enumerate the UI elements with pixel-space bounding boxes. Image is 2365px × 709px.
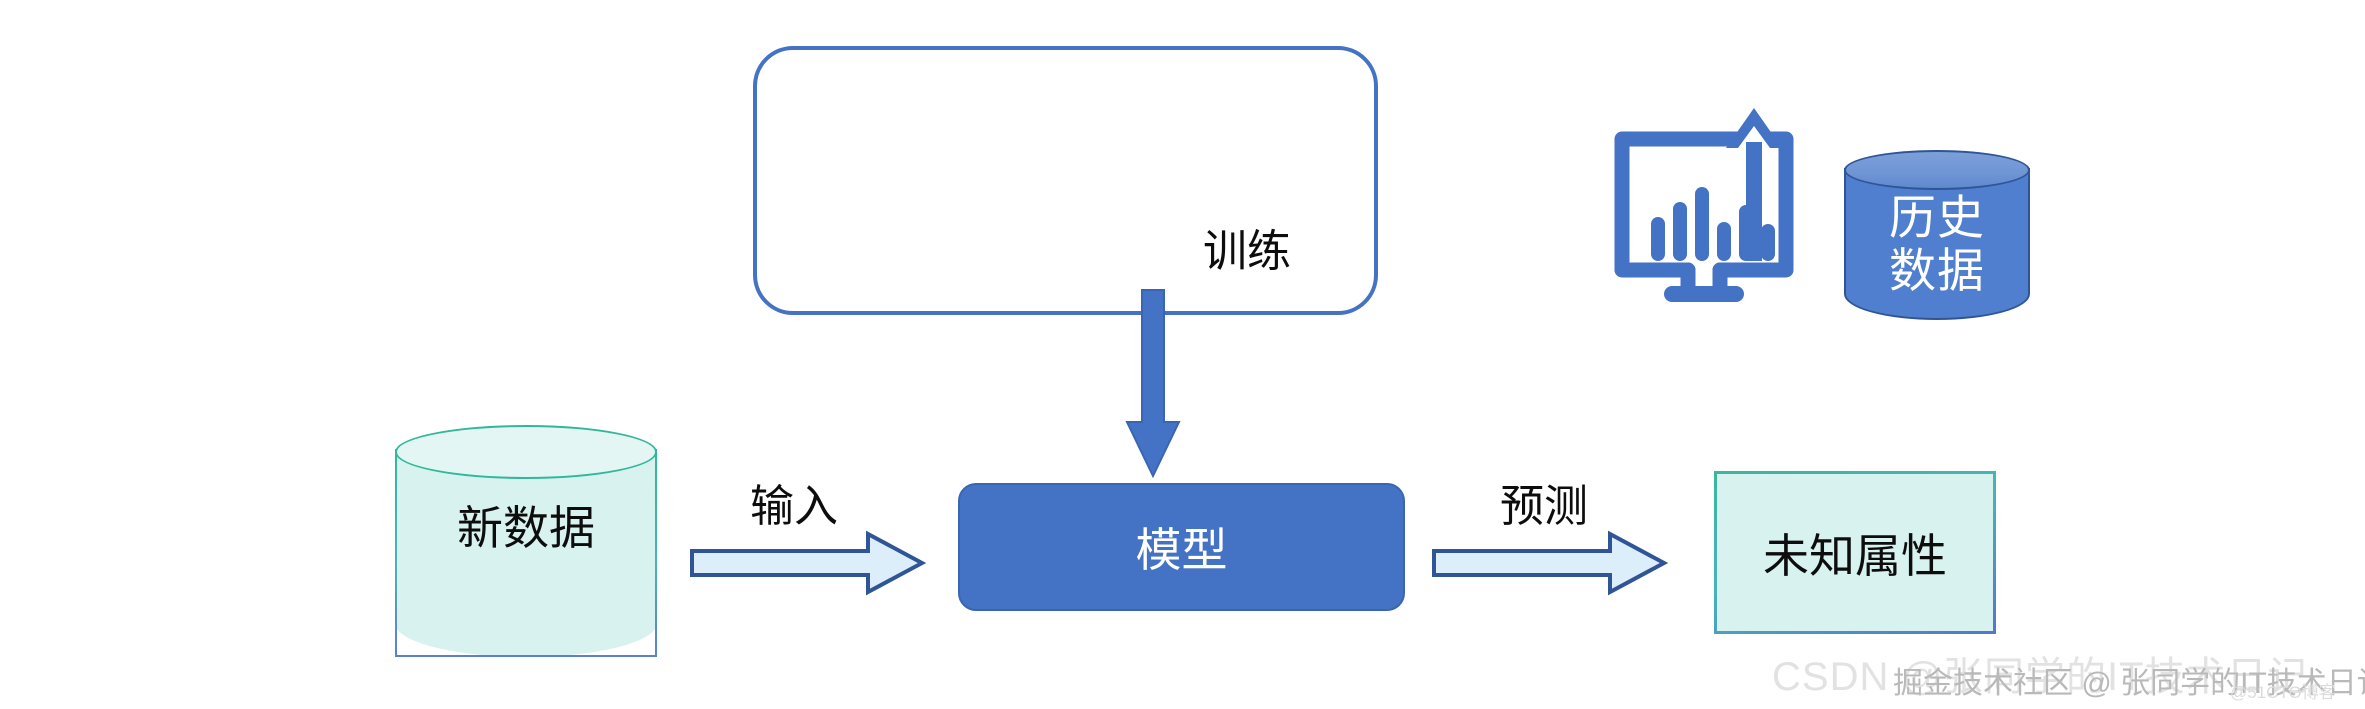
arrow-input-label: 输入: [750, 470, 838, 534]
watermark-51cto: @51CTO博客: [2230, 678, 2336, 703]
history-label-line1: 历史: [1844, 192, 2030, 245]
cylinder-top: [1844, 150, 2030, 190]
arrow-predict: [1432, 532, 1667, 594]
unknown-attribute-box: 未知属性: [1714, 471, 1996, 634]
new-data-label: 新数据: [395, 503, 657, 555]
arrow-train: [1125, 290, 1181, 480]
arrow-predict-label: 预测: [1500, 470, 1588, 534]
history-data-cylinder: 历史 数据: [1844, 150, 2030, 320]
model-box: 模型: [958, 483, 1405, 611]
cylinder-top: [395, 425, 657, 479]
monitor-bar-chart-arrow-up-icon: [1600, 102, 1835, 302]
diagram-canvas: 历史 数据 训练 新数据 输入 模型 预测 未知属性 CSDN @张同学的IT技…: [0, 0, 2365, 709]
history-label-line2: 数据: [1844, 245, 2030, 298]
arrow-train-label: 训练: [1203, 215, 1291, 279]
model-label: 模型: [1136, 514, 1228, 580]
new-data-cylinder: 新数据: [395, 425, 657, 657]
arrow-input: [690, 532, 925, 594]
unknown-attribute-label: 未知属性: [1763, 520, 1947, 586]
history-data-label: 历史 数据: [1844, 192, 2030, 297]
